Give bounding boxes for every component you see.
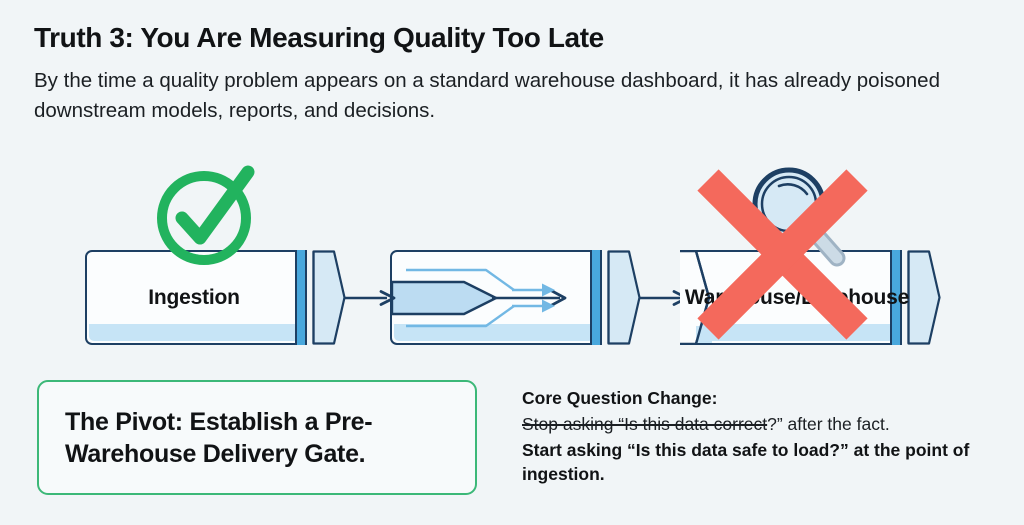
pipeline-diagram: Ingestion xyxy=(0,150,1024,360)
connector-arrow-1 xyxy=(337,290,397,306)
check-circle-icon xyxy=(152,158,264,270)
page-subtitle: By the time a quality problem appears on… xyxy=(34,66,964,126)
core-question-heading: Core Question Change: xyxy=(522,385,992,411)
infographic-slide: Truth 3: You Are Measuring Quality Too L… xyxy=(0,0,1024,525)
core-question-block: Core Question Change: Stop asking “Is th… xyxy=(522,385,992,487)
core-question-stop-tail: ?” after the fact. xyxy=(767,414,890,434)
stage-nozzle xyxy=(312,250,346,345)
pipeline-stage-transform xyxy=(390,250,640,345)
core-question-stop-line: Stop asking “Is this data correct?” afte… xyxy=(522,411,992,437)
stage-body xyxy=(390,250,598,345)
pivot-text: The Pivot: Establish a Pre-Warehouse Del… xyxy=(65,406,449,470)
stage-nozzle xyxy=(907,250,941,345)
red-x-icon xyxy=(690,162,875,347)
core-question-struck-text: Stop asking “Is this data correct xyxy=(522,414,767,434)
pivot-callout-box: The Pivot: Establish a Pre-Warehouse Del… xyxy=(37,380,477,495)
stage-valve-bar xyxy=(590,250,602,345)
core-question-start-line: Start asking “Is this data safe to load?… xyxy=(522,438,992,488)
stage-nozzle xyxy=(607,250,641,345)
funnel-flow-graphic xyxy=(392,252,596,343)
page-title: Truth 3: You Are Measuring Quality Too L… xyxy=(34,22,604,54)
